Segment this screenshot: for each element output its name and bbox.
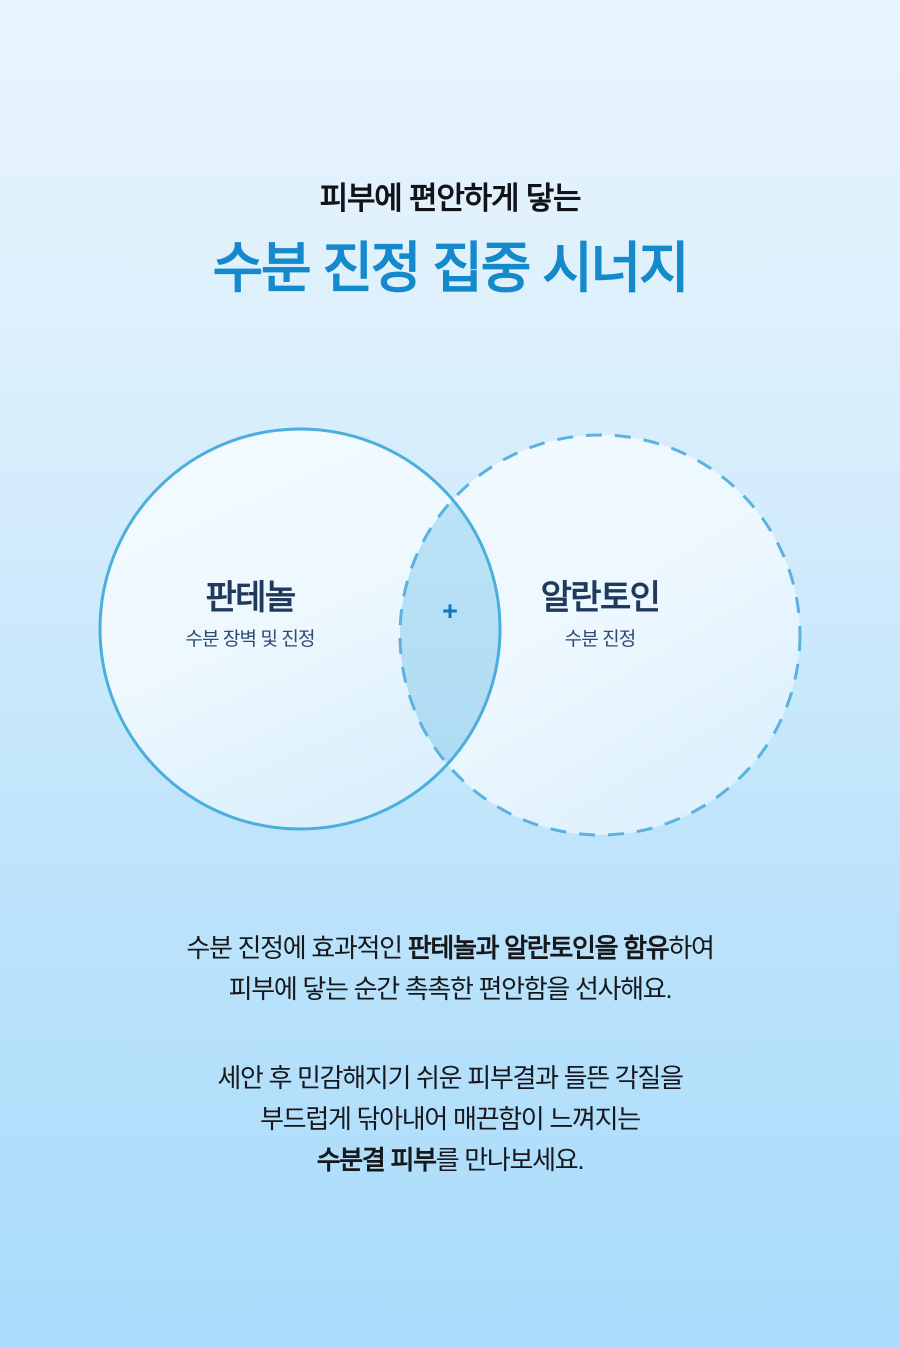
p1-line2: 피부에 닿는 순간 촉촉한 편안함을 선사해요.	[229, 974, 672, 1004]
venn-label-left: 판테놀 수분 장벽 및 진정	[110, 578, 390, 652]
p1-line1-pre: 수분 진정에 효과적인	[186, 933, 407, 963]
p2-line2: 부드럽게 닦아내어 매끈함이 느껴지는	[260, 1104, 640, 1134]
eyebrow-text: 피부에 편안하게 닿는	[0, 180, 900, 219]
paragraph-spacer	[0, 1010, 900, 1058]
heading-block: 피부에 편안하게 닿는 수분 진정 집중 시너지	[0, 180, 900, 301]
promo-page: 피부에 편안하게 닿는 수분 진정 집중 시너지	[0, 0, 900, 1347]
venn-left-title: 판테놀	[110, 578, 390, 619]
p1-line1-bold: 판테놀과 알란토인을 함유	[408, 933, 669, 963]
p1-line1-post: 하여	[668, 933, 713, 963]
paragraph-2: 세안 후 민감해지기 쉬운 피부결과 들뜬 각질을 부드럽게 닦아내어 매끈함이…	[0, 1058, 900, 1181]
venn-label-right: 알란토인 수분 진정	[460, 578, 740, 652]
paragraph-1: 수분 진정에 효과적인 판테놀과 알란토인을 함유하여 피부에 닿는 순간 촉촉…	[0, 928, 900, 1010]
page-title: 수분 진정 집중 시너지	[0, 235, 900, 301]
venn-right-subtitle: 수분 진정	[460, 629, 740, 652]
venn-right-title: 알란토인	[460, 578, 740, 619]
p2-line3-post: 를 만나보세요.	[436, 1145, 584, 1175]
p2-line3-bold: 수분결 피부	[317, 1145, 436, 1175]
venn-left-subtitle: 수분 장벽 및 진정	[110, 629, 390, 652]
p2-line1: 세안 후 민감해지기 쉬운 피부결과 들뜬 각질을	[217, 1063, 682, 1093]
body-copy: 수분 진정에 효과적인 판테놀과 알란토인을 함유하여 피부에 닿는 순간 촉촉…	[0, 928, 900, 1181]
